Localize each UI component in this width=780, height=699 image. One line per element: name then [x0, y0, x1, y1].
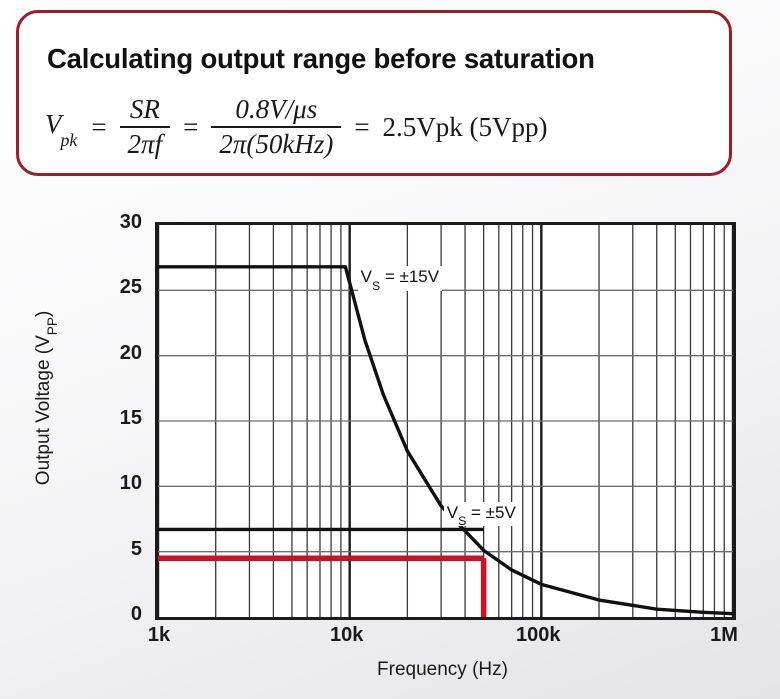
plot-inner: VS = ±15VVS = ±5V	[158, 225, 733, 617]
y-axis-title-main: Output Voltage (V	[33, 335, 54, 485]
y-axis-title-subscript: PP	[45, 317, 60, 335]
x-axis-tick-label: 1k	[148, 624, 170, 647]
curve-vs-15v	[158, 267, 733, 614]
y-axis-tick-label: 5	[131, 539, 142, 559]
plot-svg	[158, 225, 733, 617]
page-title: Calculating output range before saturati…	[47, 43, 595, 75]
y-axis-title: Output Voltage (VPP)	[33, 278, 57, 518]
y-axis-tick-label: 15	[120, 408, 142, 428]
x-axis-tick-label: 100k	[516, 624, 561, 647]
x-axis-tick-label: 10k	[330, 624, 363, 647]
formula-lhs-variable: Vpk	[45, 109, 80, 144]
y-axis-tick-label: 25	[120, 277, 142, 297]
formula-equals-1: =	[91, 112, 106, 143]
formula-callout-box: Calculating output range before saturati…	[16, 10, 732, 176]
annotation-vs5-main: V	[447, 503, 458, 522]
annotation-vs15-subscript: S	[372, 279, 380, 293]
formula-result: 2.5Vpk (5Vpp)	[383, 112, 548, 143]
x-axis-title: Frequency (Hz)	[155, 659, 730, 681]
slew-rate-formula: Vpk = SR 2πf = 0.8V/μs 2π(50kHz) = 2.5Vp…	[45, 95, 548, 159]
slide-root: Calculating output range before saturati…	[0, 0, 780, 699]
annotation-vs5-subscript: S	[458, 514, 466, 528]
formula-fraction-2-numerator: 0.8V/μs	[227, 95, 325, 126]
y-axis-tick-label: 10	[120, 473, 142, 493]
formula-fraction-1: SR 2πf	[120, 95, 171, 159]
annotation-vs5-tail: = ±5V	[466, 503, 516, 522]
x-axis-tick-label: 1M	[710, 624, 738, 647]
plot-area: VS = ±15VVS = ±5V	[155, 222, 736, 620]
y-axis-tick-labels: 051015202530	[96, 222, 142, 614]
x-axis-tick-labels: 1k10k100k1M	[155, 624, 730, 652]
output-swing-chart: 051015202530 VS = ±15VVS = ±5V 1k10k100k…	[0, 196, 780, 699]
formula-equals-3: =	[354, 112, 369, 143]
y-axis-tick-label: 20	[120, 343, 142, 363]
formula-fraction-2-denominator: 2π(50kHz)	[211, 126, 341, 159]
annotation-vs5: VS = ±5V	[444, 502, 519, 526]
annotation-vs15-main: V	[361, 267, 372, 286]
y-axis-tick-label: 0	[131, 604, 142, 624]
formula-fraction-1-numerator: SR	[122, 95, 168, 126]
formula-fraction-2: 0.8V/μs 2π(50kHz)	[211, 95, 341, 159]
formula-lhs-subscript: pk	[61, 130, 78, 150]
annotation-vs15-tail: = ±15V	[380, 267, 439, 286]
formula-fraction-1-denominator: 2πf	[120, 126, 171, 159]
formula-equals-2: =	[183, 112, 198, 143]
annotation-vs15: VS = ±15V	[358, 266, 442, 290]
y-axis-tick-label: 30	[120, 212, 142, 232]
